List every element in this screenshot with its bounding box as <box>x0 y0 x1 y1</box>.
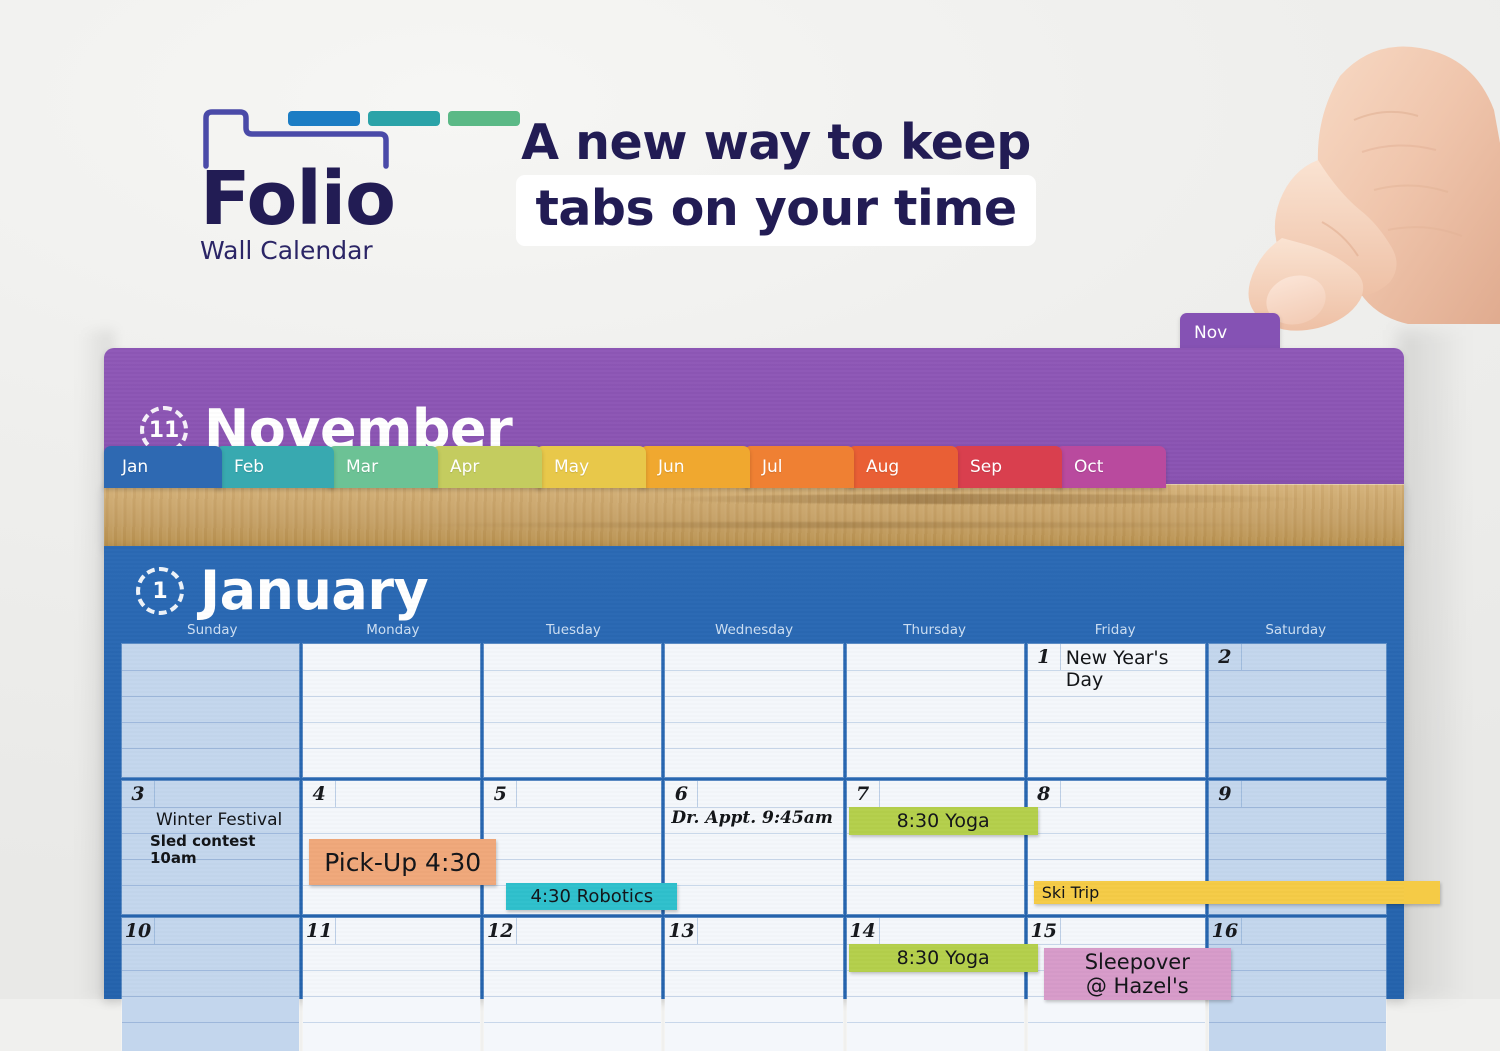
rule-line <box>1209 1022 1386 1023</box>
logo-chip-2 <box>368 111 440 126</box>
wood-grain-line-1 <box>664 494 1304 504</box>
date-number-box: 4 <box>303 781 336 807</box>
date-number-box: 13 <box>665 918 698 944</box>
rule-line <box>303 807 480 808</box>
rule-line <box>1028 944 1205 945</box>
rule-line <box>484 996 661 997</box>
rule-line <box>1209 807 1386 808</box>
date-number: 8 <box>1037 785 1050 804</box>
rule-line <box>303 748 480 749</box>
rule-line <box>122 996 299 997</box>
rule-line <box>1209 859 1386 860</box>
rule-line <box>484 748 661 749</box>
date-number: 13 <box>668 922 694 941</box>
month-tab-label: Sep <box>970 457 1002 477</box>
date-number-box: 15 <box>1028 918 1061 944</box>
month-tab-label: May <box>554 457 589 477</box>
brand-subtitle: Wall Calendar <box>200 236 520 265</box>
rule-line <box>847 996 1024 997</box>
calendar-day-10[interactable]: 10 <box>122 918 299 1051</box>
tagline: A new way to keep tabs on your time <box>516 118 1036 246</box>
rule-line <box>847 833 1024 834</box>
event-note-dr-appt: Dr. Appt. 9:45am <box>671 809 838 829</box>
rule-line <box>484 944 661 945</box>
month-tab-strip: JanFebMarAprMayJunJulAugSepOct <box>104 446 1404 488</box>
calendar-day-empty[interactable] <box>484 644 661 777</box>
calendar-day-15[interactable]: 15 <box>1028 918 1205 1051</box>
calendar-day-1[interactable]: 1New Year's Day <box>1028 644 1205 777</box>
rule-line <box>1028 885 1205 886</box>
wood-grain-line-2 <box>404 522 1284 528</box>
hand-pinching-icon <box>1222 24 1500 344</box>
month-tab-label: Mar <box>346 457 378 477</box>
date-number-box: 9 <box>1209 781 1242 807</box>
month-tab-sep[interactable]: Sep <box>952 446 1062 488</box>
rule-line <box>847 670 1024 671</box>
calendar-day-16[interactable]: 16 <box>1209 918 1386 1051</box>
january-month-title: January <box>200 564 428 618</box>
rule-line <box>1028 833 1205 834</box>
rule-line <box>1209 885 1386 886</box>
rule-line <box>665 670 842 671</box>
rule-line <box>303 1022 480 1023</box>
month-tab-mar[interactable]: Mar <box>328 446 438 488</box>
rule-line <box>303 859 480 860</box>
rule-line <box>665 944 842 945</box>
rule-line <box>122 670 299 671</box>
cell-rule-lines <box>303 644 480 777</box>
rule-line <box>1028 1022 1205 1023</box>
date-number: 4 <box>313 785 326 804</box>
rule-line <box>1028 807 1205 808</box>
calendar-day-13[interactable]: 13 <box>665 918 842 1051</box>
date-number: 16 <box>1212 922 1238 941</box>
rule-line <box>1209 944 1386 945</box>
rule-line <box>665 859 842 860</box>
brand-name: Folio <box>200 164 520 234</box>
calendar-day-11[interactable]: 11 <box>303 918 480 1051</box>
rule-line <box>122 944 299 945</box>
calendar-day-3[interactable]: 3Winter FestivalSled contest 10am <box>122 781 299 914</box>
january-month-badge: 1 <box>136 567 184 615</box>
rule-line <box>303 833 480 834</box>
date-number-box: 3 <box>122 781 155 807</box>
calendar-day-4[interactable]: 4 <box>303 781 480 914</box>
date-number: 2 <box>1218 648 1231 667</box>
rule-line <box>665 996 842 997</box>
brand-lockup: Folio Wall Calendar <box>200 108 520 265</box>
date-number: 1 <box>1037 648 1050 667</box>
rule-line <box>303 696 480 697</box>
rule-line <box>1209 996 1386 997</box>
rule-line <box>303 970 480 971</box>
hand-photo <box>1222 24 1500 344</box>
rule-line <box>484 1022 661 1023</box>
month-tab-jan[interactable]: Jan <box>104 446 222 488</box>
day-header-monday: Monday <box>303 622 484 644</box>
rule-line <box>1209 696 1386 697</box>
rule-line <box>1209 748 1386 749</box>
month-tab-jun[interactable]: Jun <box>640 446 750 488</box>
january-page[interactable]: 1 January SundayMondayTuesdayWednesdayTh… <box>104 546 1404 999</box>
pulled-tab-label: Nov <box>1194 323 1227 343</box>
rule-line <box>1209 670 1386 671</box>
date-number-box: 8 <box>1028 781 1061 807</box>
calendar-week-row: 3Winter FestivalSled contest 10am456Dr. … <box>122 781 1386 914</box>
date-number: 7 <box>856 785 869 804</box>
calendar-day-empty[interactable] <box>665 644 842 777</box>
month-tab-label: Jun <box>658 457 685 477</box>
rule-line <box>665 833 842 834</box>
date-number-box: 1 <box>1028 644 1061 670</box>
day-of-week-header-row: SundayMondayTuesdayWednesdayThursdayFrid… <box>122 622 1386 644</box>
date-number-box: 2 <box>1209 644 1242 670</box>
rule-line <box>122 696 299 697</box>
month-tab-aug[interactable]: Aug <box>848 446 958 488</box>
rule-line <box>847 885 1024 886</box>
cell-rule-lines <box>665 644 842 777</box>
tagline-line-2: tabs on your time <box>534 184 1018 233</box>
date-number-box: 12 <box>484 918 517 944</box>
rule-line <box>847 748 1024 749</box>
date-number-box: 16 <box>1209 918 1242 944</box>
date-number: 9 <box>1218 785 1231 804</box>
rule-line <box>665 722 842 723</box>
rule-line <box>122 970 299 971</box>
month-tab-jul[interactable]: Jul <box>744 446 854 488</box>
rule-line <box>484 833 661 834</box>
calendar-day-5[interactable]: 5 <box>484 781 661 914</box>
rule-line <box>484 696 661 697</box>
date-number-box: 10 <box>122 918 155 944</box>
folio-logo-icon <box>200 108 410 170</box>
date-number-box: 11 <box>303 918 336 944</box>
logo-chip-1 <box>288 111 360 126</box>
rule-line <box>484 885 661 886</box>
cell-rule-lines <box>122 644 299 777</box>
rule-line <box>1028 722 1205 723</box>
rule-line <box>122 885 299 886</box>
month-tab-label: Aug <box>866 457 899 477</box>
calendar-day-6[interactable]: 6Dr. Appt. 9:45am <box>665 781 842 914</box>
logo-chip-3 <box>448 111 520 126</box>
month-tab-apr[interactable]: Apr <box>432 446 542 488</box>
date-number: 3 <box>131 785 144 804</box>
rule-line <box>847 970 1024 971</box>
rule-line <box>847 722 1024 723</box>
calendar-week-row: 10111213141516 <box>122 918 1386 1051</box>
rule-line <box>1028 748 1205 749</box>
month-tab-oct[interactable]: Oct <box>1056 446 1166 488</box>
month-tab-label: Oct <box>1074 457 1103 477</box>
rule-line <box>1028 859 1205 860</box>
cell-rule-lines <box>847 644 1024 777</box>
calendar-week-row: 1New Year's Day2 <box>122 644 1386 777</box>
date-number: 6 <box>675 785 688 804</box>
rule-line <box>665 1022 842 1023</box>
calendar-right-shadow <box>1398 330 1468 999</box>
rule-line <box>665 885 842 886</box>
calendar-day-2[interactable]: 2 <box>1209 644 1386 777</box>
date-number: 5 <box>494 785 507 804</box>
rule-line <box>1028 696 1205 697</box>
month-tab-feb[interactable]: Feb <box>216 446 334 488</box>
date-number: 12 <box>487 922 513 941</box>
event-note-winter-festival: Winter Festival <box>156 811 295 831</box>
rule-line <box>665 696 842 697</box>
date-number-box: 6 <box>665 781 698 807</box>
rule-line <box>847 696 1024 697</box>
date-number: 10 <box>125 922 151 941</box>
calendar-day-9[interactable]: 9 <box>1209 781 1386 914</box>
rule-line <box>665 970 842 971</box>
calendar-day-empty[interactable] <box>122 644 299 777</box>
month-tab-label: Apr <box>450 457 479 477</box>
rule-line <box>122 1022 299 1023</box>
calendar-day-14[interactable]: 14 <box>847 918 1024 1051</box>
rule-line <box>847 807 1024 808</box>
rule-line <box>303 885 480 886</box>
rule-line <box>484 722 661 723</box>
rule-line <box>303 944 480 945</box>
month-tab-may[interactable]: May <box>536 446 646 488</box>
calendar-day-12[interactable]: 12 <box>484 918 661 1051</box>
day-header-wednesday: Wednesday <box>664 622 845 644</box>
month-tab-label: Jan <box>122 457 148 477</box>
date-number-box: 5 <box>484 781 517 807</box>
rule-line <box>303 996 480 997</box>
rule-line <box>484 859 661 860</box>
calendar-grid: 1New Year's Day23Winter FestivalSled con… <box>122 644 1386 999</box>
rule-line <box>303 670 480 671</box>
month-tab-label: Jul <box>762 457 783 477</box>
tagline-line-1: A new way to keep <box>516 118 1036 167</box>
month-tab-label: Feb <box>234 457 264 477</box>
rule-line <box>484 670 661 671</box>
day-header-thursday: Thursday <box>844 622 1025 644</box>
day-header-tuesday: Tuesday <box>483 622 664 644</box>
rule-line <box>122 807 299 808</box>
event-note-sled-contest: Sled contest 10am <box>150 833 295 868</box>
day-header-friday: Friday <box>1025 622 1206 644</box>
rule-line <box>1209 722 1386 723</box>
tagline-highlight-box: tabs on your time <box>516 175 1036 246</box>
poster-stage: Folio Wall Calendar A new way to keep ta… <box>0 0 1500 999</box>
rule-line <box>1028 970 1205 971</box>
rule-line <box>1209 833 1386 834</box>
calendar-day-empty[interactable] <box>847 644 1024 777</box>
date-number: 14 <box>849 922 875 941</box>
date-number-box: 7 <box>847 781 880 807</box>
calendar-day-8[interactable]: 8 <box>1028 781 1205 914</box>
rule-line <box>122 748 299 749</box>
date-number: 15 <box>1030 922 1056 941</box>
pulled-tab-nov[interactable]: Nov <box>1180 313 1280 353</box>
event-note-new-years-day: New Year's Day <box>1066 647 1205 691</box>
rule-line <box>484 970 661 971</box>
date-number-box: 14 <box>847 918 880 944</box>
rule-line <box>484 807 661 808</box>
rule-line <box>847 859 1024 860</box>
day-header-sunday: Sunday <box>122 622 303 644</box>
rule-line <box>847 944 1024 945</box>
day-header-saturday: Saturday <box>1205 622 1386 644</box>
calendar-day-empty[interactable] <box>303 644 480 777</box>
rule-line <box>303 722 480 723</box>
rule-line <box>1028 996 1205 997</box>
rule-line <box>847 1022 1024 1023</box>
cell-rule-lines <box>484 644 661 777</box>
date-number: 11 <box>306 922 332 941</box>
january-header: 1 January <box>136 564 428 618</box>
calendar-day-7[interactable]: 7 <box>847 781 1024 914</box>
rule-line <box>1209 970 1386 971</box>
rule-line <box>665 748 842 749</box>
wooden-rail <box>104 484 1404 546</box>
rule-line <box>122 722 299 723</box>
